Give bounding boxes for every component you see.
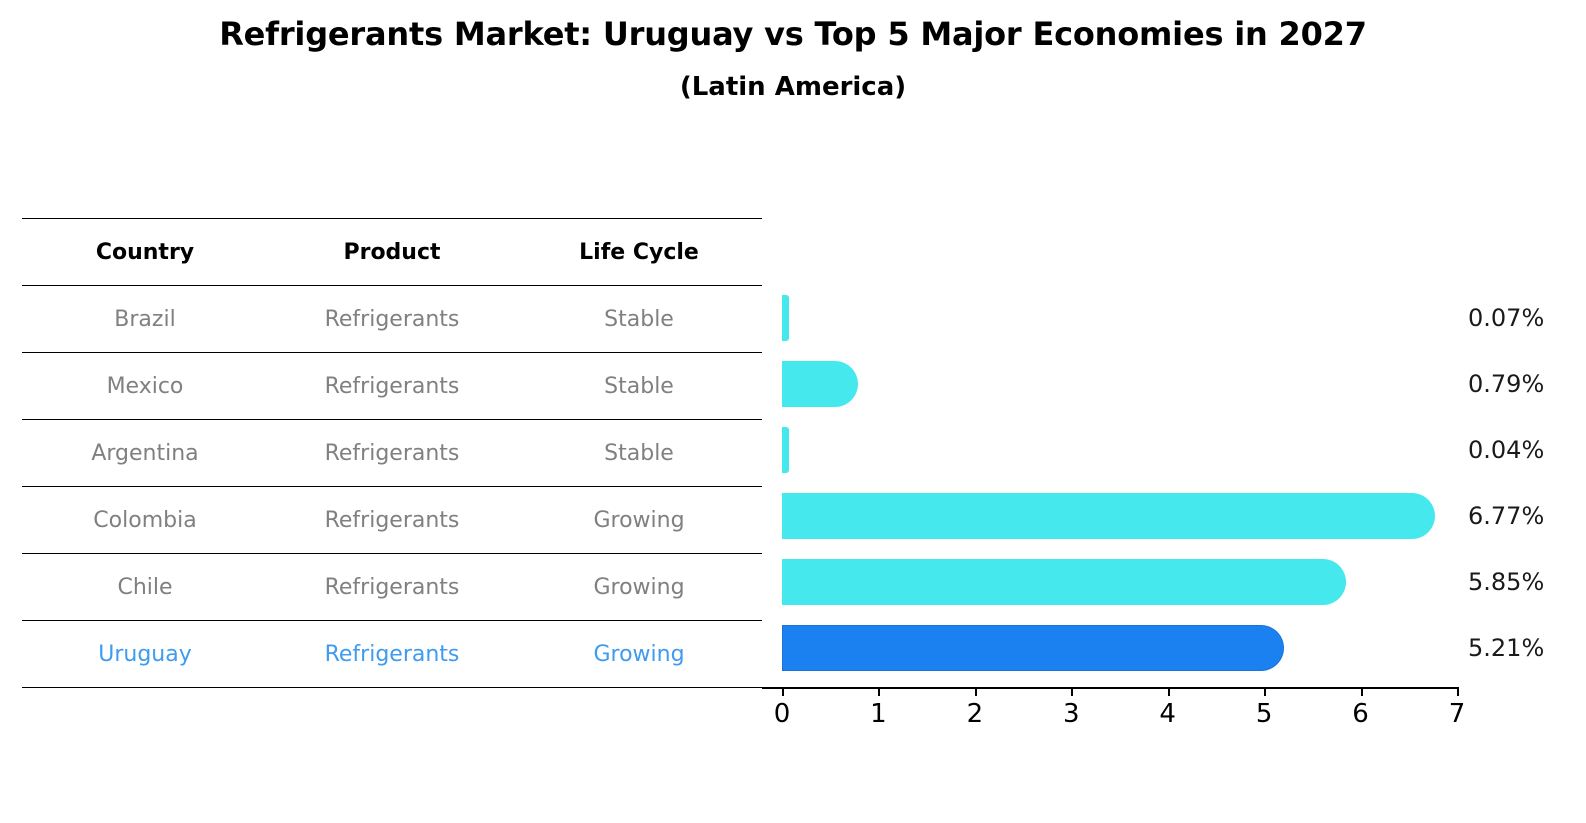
cell-country: Argentina — [22, 420, 268, 487]
bar-value-label: 5.85% — [1468, 559, 1544, 605]
bar-uruguay — [782, 625, 1284, 671]
page-title: Refrigerants Market: Uruguay vs Top 5 Ma… — [0, 14, 1586, 54]
bar-brazil — [782, 295, 789, 341]
bar-argentina — [782, 427, 789, 473]
bar-row: 5.21% — [782, 615, 1457, 681]
cell-product: Refrigerants — [268, 554, 516, 621]
bar-row: 0.07% — [782, 285, 1457, 351]
table-row: ArgentinaRefrigerantsStable — [22, 420, 762, 487]
axis-left-stub — [762, 687, 782, 689]
bar-row: 6.77% — [782, 483, 1457, 549]
title-block: Refrigerants Market: Uruguay vs Top 5 Ma… — [0, 14, 1586, 103]
page-subtitle: (Latin America) — [0, 72, 1586, 103]
table-row: ColombiaRefrigerantsGrowing — [22, 487, 762, 554]
cell-country: Brazil — [22, 286, 268, 353]
cell-life-cycle: Growing — [516, 621, 762, 688]
table-row: ChileRefrigerantsGrowing — [22, 554, 762, 621]
cell-country: Colombia — [22, 487, 268, 554]
cell-life-cycle: Stable — [516, 353, 762, 420]
x-axis-tick — [1264, 687, 1266, 696]
x-axis-tick-label: 2 — [967, 699, 984, 729]
cell-life-cycle: Growing — [516, 554, 762, 621]
cell-life-cycle: Stable — [516, 286, 762, 353]
column-header-country: Country — [22, 219, 268, 286]
bar-value-label: 0.79% — [1468, 361, 1544, 407]
x-axis-tick — [782, 687, 784, 696]
bar-chart-plot-area: 0.07%0.79%0.04%6.77%5.85%5.21% — [782, 285, 1457, 687]
x-axis-tick-label: 6 — [1352, 699, 1369, 729]
bar-row: 0.79% — [782, 351, 1457, 417]
x-axis-tick — [1457, 687, 1459, 696]
x-axis-tick — [1071, 687, 1073, 696]
bar-value-label: 6.77% — [1468, 493, 1544, 539]
x-axis-line — [782, 687, 1457, 689]
column-header-product: Product — [268, 219, 516, 286]
x-axis-tick-label: 1 — [870, 699, 887, 729]
bar-value-label: 5.21% — [1468, 625, 1544, 671]
x-axis: 01234567 — [782, 687, 1457, 743]
x-axis-tick — [878, 687, 880, 696]
bar-value-label: 0.04% — [1468, 427, 1544, 473]
cell-product: Refrigerants — [268, 286, 516, 353]
table-body: BrazilRefrigerantsStableMexicoRefrigeran… — [22, 286, 762, 688]
table-header: Country Product Life Cycle — [22, 219, 762, 286]
summary-table: Country Product Life Cycle BrazilRefrige… — [22, 218, 762, 688]
x-axis-tick-label: 3 — [1063, 699, 1080, 729]
x-axis-tick-label: 5 — [1256, 699, 1273, 729]
column-header-life-cycle: Life Cycle — [516, 219, 762, 286]
cell-product: Refrigerants — [268, 353, 516, 420]
cell-country: Mexico — [22, 353, 268, 420]
x-axis-tick-label: 7 — [1449, 699, 1466, 729]
bar-chile — [782, 559, 1346, 605]
cell-product: Refrigerants — [268, 621, 516, 688]
x-axis-tick — [975, 687, 977, 696]
table-row: BrazilRefrigerantsStable — [22, 286, 762, 353]
x-axis-tick-label: 0 — [774, 699, 791, 729]
bar-value-label: 0.07% — [1468, 295, 1544, 341]
table-row: MexicoRefrigerantsStable — [22, 353, 762, 420]
cell-country: Chile — [22, 554, 268, 621]
x-axis-tick — [1168, 687, 1170, 696]
bar-row: 0.04% — [782, 417, 1457, 483]
x-axis-tick-label: 4 — [1159, 699, 1176, 729]
summary-table-panel: Country Product Life Cycle BrazilRefrige… — [22, 218, 762, 688]
table-row: UruguayRefrigerantsGrowing — [22, 621, 762, 688]
bar-colombia — [782, 493, 1435, 539]
table-header-row: Country Product Life Cycle — [22, 219, 762, 286]
cell-life-cycle: Stable — [516, 420, 762, 487]
cell-country: Uruguay — [22, 621, 268, 688]
cell-product: Refrigerants — [268, 420, 516, 487]
bar-mexico — [782, 361, 858, 407]
cell-product: Refrigerants — [268, 487, 516, 554]
cell-life-cycle: Growing — [516, 487, 762, 554]
x-axis-tick — [1361, 687, 1363, 696]
bar-row: 5.85% — [782, 549, 1457, 615]
